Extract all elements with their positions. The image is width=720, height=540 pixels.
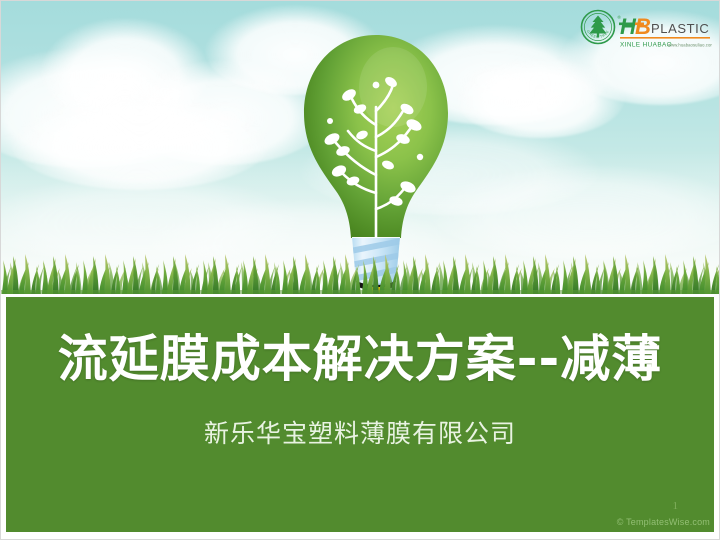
page-number: 1 [673,500,679,512]
green-tree-badge-icon: GREEN TREE [582,11,615,44]
presentation-slide: 流延膜成本解决方案--减薄 新乐华宝塑料薄膜有限公司 1 © Templates… [0,0,720,540]
company-website: www.huabaosuliao.com [668,43,712,48]
copyright-notice: © TemplatesWise.com [617,517,710,527]
page-title: 流延膜成本解决方案--减薄 [0,330,720,388]
logo-underline [620,37,710,39]
company-name-en: XINLE HUABAO [620,42,672,49]
page-subtitle: 新乐华宝塑料薄膜有限公司 [0,418,720,450]
grass-strip [0,252,720,294]
grass-icon [0,252,720,294]
svg-text:B: B [635,14,651,39]
cloud-shape [455,58,625,138]
company-logo[interactable]: GREEN TREE ® H B PLASTIC XINLE HUABAO ww… [578,8,712,54]
plastic-wordmark: PLASTIC [651,21,709,36]
hb-wordmark: H B [619,14,651,39]
cloud-shape [40,18,210,123]
